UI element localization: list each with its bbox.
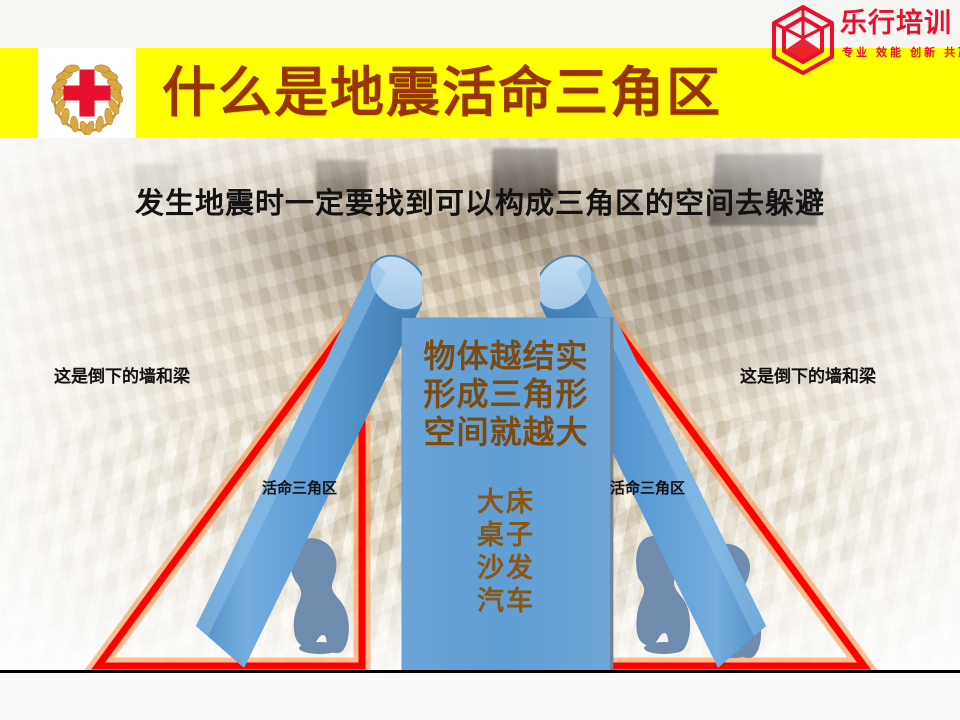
slide-subtitle: 发生地震时一定要找到可以构成三角区的空间去躲避 (0, 190, 960, 219)
center-headline-line: 形成三角形 (402, 376, 610, 414)
slide-title: 什么是地震活命三角区 (162, 50, 782, 136)
label-survival-triangle-right: 活命三角区 (610, 481, 685, 496)
hexagon-cube-logo-icon (770, 4, 836, 76)
fallen-beam-left (196, 252, 422, 676)
center-item: 桌子 (402, 519, 610, 552)
slide-root: 发生地震时一定要找到可以构成三角区的空间去躲避 (0, 0, 960, 720)
label-fallen-wall-left: 这是倒下的墙和梁 (54, 368, 190, 385)
center-headline: 物体越结实 形成三角形 空间就越大 (402, 338, 610, 451)
center-headline-line: 物体越结实 (402, 338, 610, 376)
emblem-box (38, 48, 136, 138)
label-survival-triangle-left: 活命三角区 (262, 481, 337, 496)
logo-tagline: 专业 效能 创新 共赢 (842, 48, 960, 59)
center-item: 汽车 (402, 585, 610, 618)
center-item: 沙发 (402, 552, 610, 585)
center-item-list: 大床 桌子 沙发 汽车 (402, 486, 610, 618)
center-headline-line: 空间就越大 (402, 414, 610, 452)
center-item: 大床 (402, 486, 610, 519)
company-logo: 乐行培训 专业 效能 创新 共赢 (764, 2, 954, 80)
center-object-block: 物体越结实 形成三角形 空间就越大 大床 桌子 沙发 汽车 (402, 318, 613, 672)
label-fallen-wall-right: 这是倒下的墙和梁 (740, 368, 876, 385)
floor-area (0, 673, 960, 720)
red-cross-laurel-icon (45, 51, 129, 135)
logo-name: 乐行培训 (840, 10, 952, 37)
